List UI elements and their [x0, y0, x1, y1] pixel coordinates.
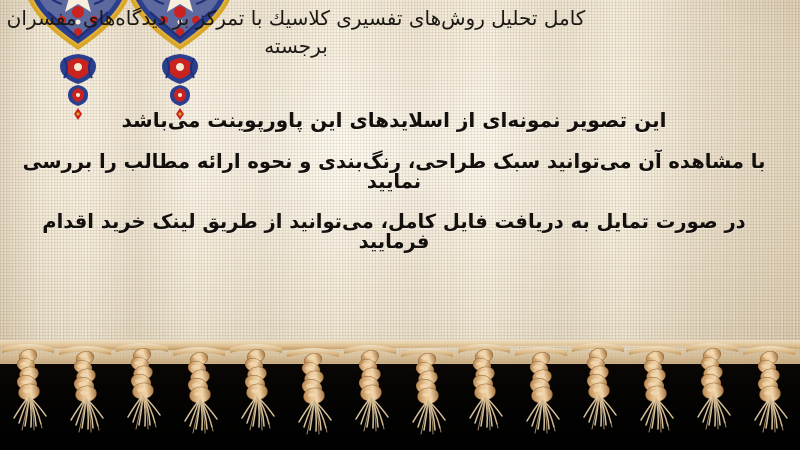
body-line-2: با مشاهده آن می‌توانید سبک طراحی، رنگ‌بن…	[10, 152, 778, 191]
slide-body: این تصویر نمونه‌ای از اسلایدهای این پاور…	[10, 110, 778, 251]
black-bottom-band	[0, 364, 800, 450]
presentation-slide: کامل تحلیل روش‌های تفسیری کلاسیك با تمرک…	[0, 0, 800, 450]
slide-title: کامل تحلیل روش‌های تفسیری کلاسیك با تمرک…	[0, 4, 792, 61]
carpet-top-edge	[0, 346, 800, 364]
body-line-1: این تصویر نمونه‌ای از اسلایدهای این پاور…	[10, 110, 778, 130]
body-line-3: در صورت تمایل به دریافت فایل کامل، می‌تو…	[10, 212, 778, 251]
